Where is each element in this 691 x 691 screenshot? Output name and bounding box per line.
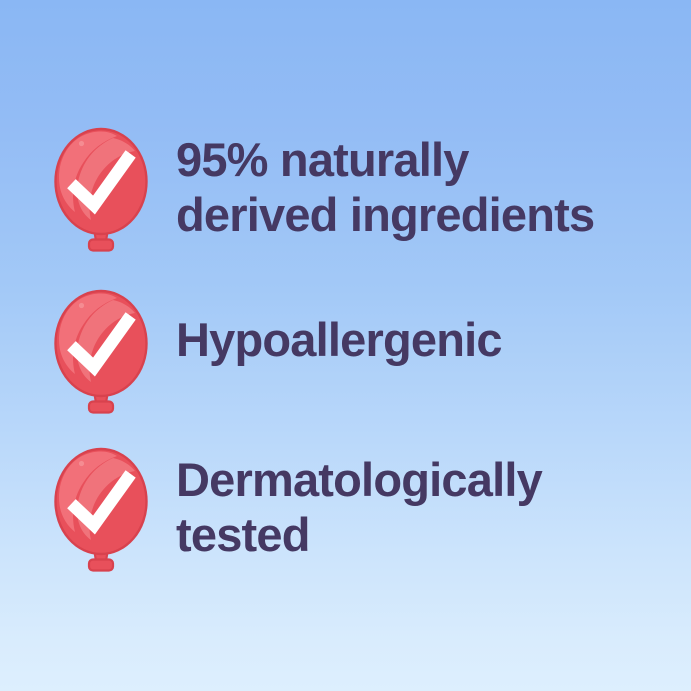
balloon-check-icon (47, 446, 155, 580)
product-benefits-graphic: 95% naturally derived ingredients Hypoal… (0, 0, 691, 691)
benefit-item: Dermatologically tested (47, 446, 677, 580)
benefit-label: Hypoallergenic (176, 313, 677, 368)
benefit-item: Hypoallergenic (47, 288, 677, 422)
benefit-label: 95% naturally derived ingredients (176, 133, 677, 242)
balloon-check-icon (47, 126, 155, 260)
balloon-check-icon (47, 288, 155, 422)
benefit-list: 95% naturally derived ingredients Hypoal… (0, 0, 691, 691)
benefit-label: Dermatologically tested (176, 453, 677, 562)
benefit-item: 95% naturally derived ingredients (47, 126, 677, 260)
